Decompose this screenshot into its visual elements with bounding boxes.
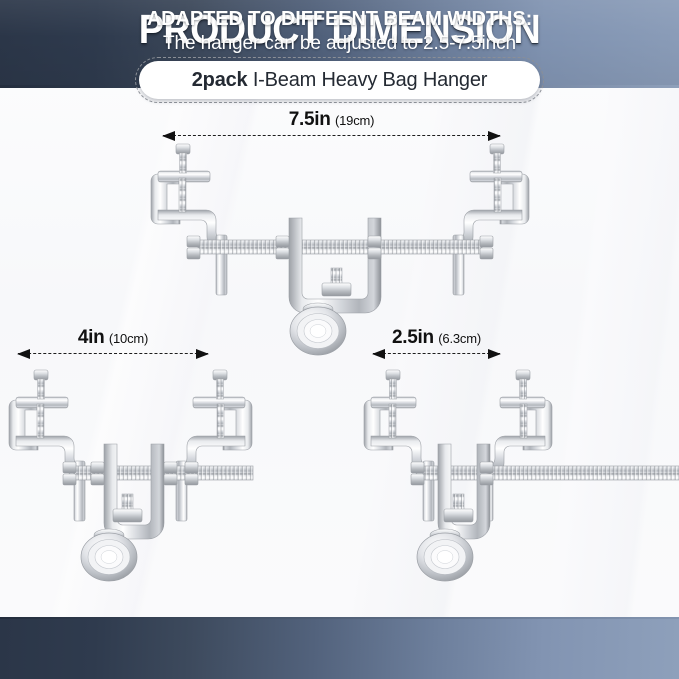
- subtitle-pack-count: 2pack: [192, 69, 248, 91]
- c-clamp-bracket-right: [450, 171, 529, 295]
- eye-bolt-ring-wide: [288, 305, 348, 357]
- dimension-label-bottom-left: 4in (10cm): [18, 327, 208, 349]
- c-clamp-bracket-left: [9, 397, 88, 521]
- arrow-right-icon: [488, 349, 501, 359]
- dimension-inches: 7.5in: [289, 109, 331, 130]
- arrow-right-icon: [488, 131, 501, 141]
- dimension-metric: (10cm): [109, 331, 148, 346]
- hanger-narrow: [363, 366, 679, 551]
- dimension-inches: 2.5in: [392, 327, 434, 348]
- eye-bolt-stem: [113, 494, 142, 522]
- dimension-metric: (6.3cm): [438, 331, 481, 346]
- hanger-medium: [8, 366, 253, 551]
- footer-bar: [0, 617, 679, 679]
- arrow-left-icon: [162, 131, 175, 141]
- c-clamp-bracket-right: [482, 397, 552, 521]
- product-dimension-infographic: PRODUCT DIMENSION 2pack I-Beam Heavy Bag…: [0, 0, 679, 679]
- arrow-right-icon: [196, 349, 209, 359]
- c-clamp-bracket-left: [151, 171, 230, 295]
- dimension-label-top: 7.5in (19cm): [163, 109, 500, 131]
- dimension-inches: 4in: [78, 327, 105, 348]
- footer-subtext: The hanger can be adjusted to 2.5-7.5inc…: [0, 33, 679, 55]
- hanger-wide: [150, 140, 530, 325]
- eye-bolt-stem: [322, 268, 351, 296]
- threaded-rod: [198, 240, 482, 254]
- dimension-dash-line: [373, 353, 500, 355]
- eye-bolt-ring-medium: [79, 531, 139, 583]
- threaded-rod: [423, 466, 679, 480]
- u-bracket: [289, 218, 381, 313]
- c-clamp-bracket-left: [364, 397, 434, 521]
- dimension-dash-line: [18, 353, 208, 355]
- dimension-label-bottom-right: 2.5in (6.3cm): [373, 327, 500, 349]
- footer-headline: ADAPTED TO DIFFEENT BEAM WIDTHS:: [0, 8, 679, 31]
- arrow-left-icon: [17, 349, 30, 359]
- subtitle-product-name: I-Beam Heavy Bag Hanger: [247, 69, 487, 91]
- eye-bolt-ring-narrow: [415, 531, 475, 583]
- c-clamp-bracket-right: [173, 397, 252, 521]
- arrow-left-icon: [372, 349, 385, 359]
- u-bracket: [104, 444, 164, 539]
- dimension-dash-line: [163, 135, 500, 137]
- dimension-metric: (19cm): [335, 113, 374, 128]
- subtitle-text: 2pack I-Beam Heavy Bag Hanger: [192, 69, 487, 92]
- subtitle-pill: 2pack I-Beam Heavy Bag Hanger: [139, 61, 540, 99]
- u-bracket: [438, 444, 490, 539]
